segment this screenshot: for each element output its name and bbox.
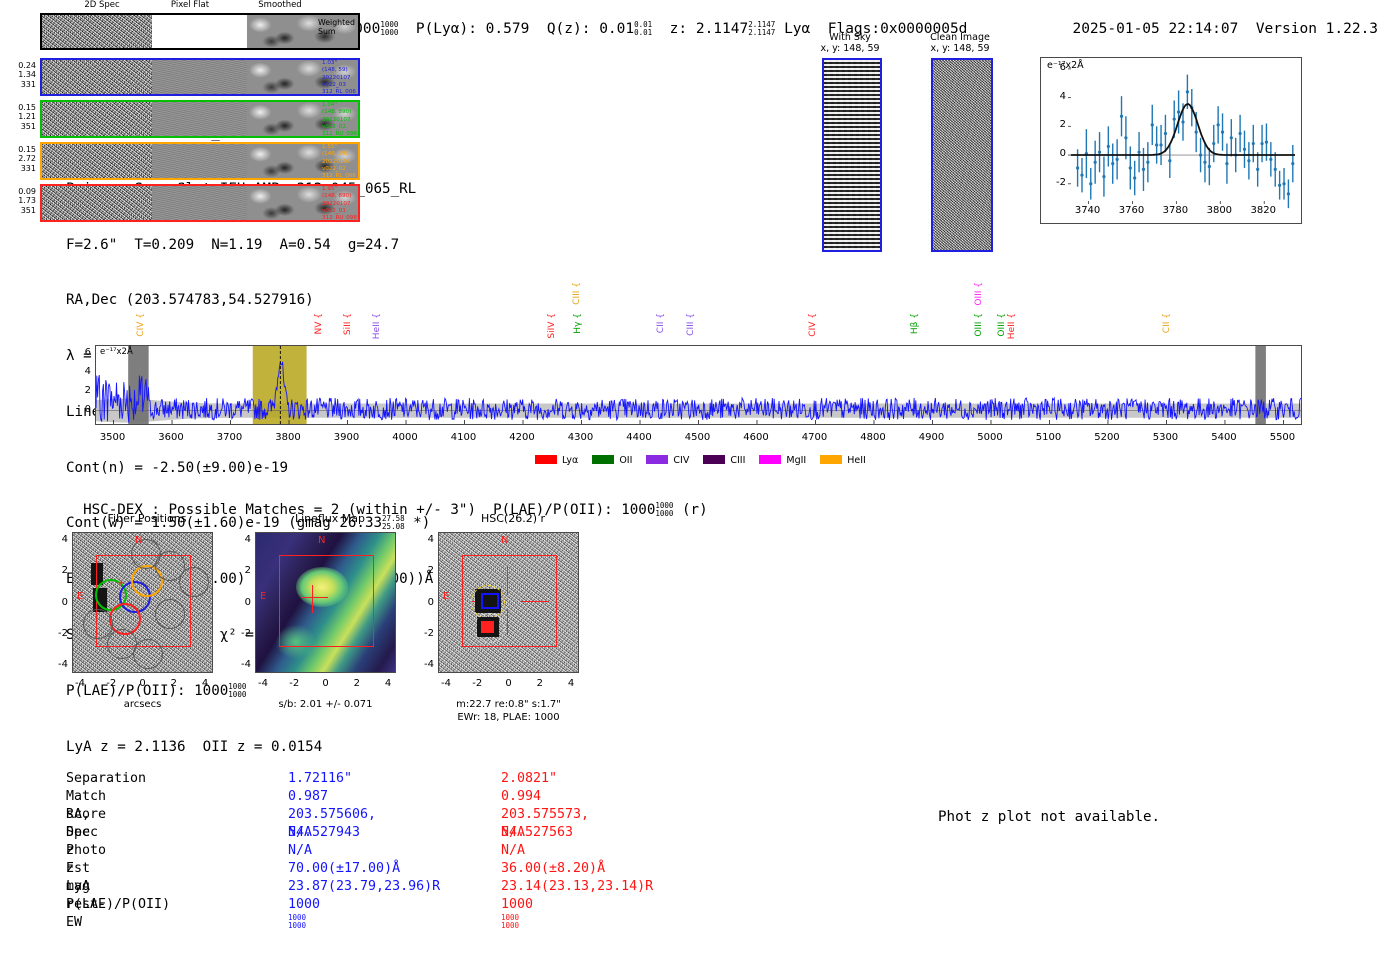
match-plae-frac: 10001000 xyxy=(501,914,519,930)
match-row-value-2: N/A xyxy=(501,842,525,860)
with-sky-image xyxy=(822,58,882,252)
spectrum-xtick: 3700 xyxy=(205,432,255,443)
fiber-north-label: N xyxy=(135,535,142,546)
spectrum-flux-units: e⁻¹⁷x2Å xyxy=(100,347,133,357)
montage-col-header-smoothed: Smoothed xyxy=(240,0,320,10)
profile-xtick: 3760 xyxy=(1111,205,1151,216)
info-redshifts: LyA z = 2.1136 OII z = 0.0154 xyxy=(66,738,433,757)
info-cont-n: Cont(n) = -2.50(±9.00)e-19 xyxy=(66,459,433,478)
match-row-value-2: 36.00(±8.20)Å xyxy=(501,860,605,878)
spectrum-xtick: 4100 xyxy=(439,432,489,443)
spectrum-xtick: 3800 xyxy=(263,432,313,443)
spectrum-line-label: HeII { xyxy=(1008,313,1017,339)
legend-label: OII xyxy=(619,455,632,466)
panel-xtick: -4 xyxy=(65,678,95,689)
panel-ytick: 2 xyxy=(48,565,68,576)
fiber-positions-xlabel: arcsecs xyxy=(72,698,213,711)
lineflux-map-title: Lineflux Map xyxy=(245,512,415,525)
montage-row-meta: 1.95"(148, 890)20220107v022_01312_RU_098 xyxy=(322,186,368,222)
photz-note: Phot z plot not available. xyxy=(938,809,1160,825)
hsc-r-xlabel: m:22.7 re:0.8" s:1.7" xyxy=(420,698,597,711)
montage-row-meta: 1.04"(148, 890)20220107v022_02312_RU_098 xyxy=(322,102,368,138)
lineflux-east-label: E xyxy=(260,591,266,602)
panel-xtick: -2 xyxy=(96,678,126,689)
montage-row-left-labels: 0.091.73351 xyxy=(0,187,36,215)
legend-swatch xyxy=(703,455,725,464)
panel-ytick: -4 xyxy=(414,659,434,670)
spectrum-line-label: OIII { xyxy=(975,313,984,337)
panel-xtick: -4 xyxy=(431,678,461,689)
legend-label: CIII xyxy=(730,455,745,466)
panel-ytick: 0 xyxy=(414,597,434,608)
match-plae-num: 1000 xyxy=(501,897,533,912)
panel-ytick: -2 xyxy=(48,628,68,639)
spectrum-xtick: 4000 xyxy=(380,432,430,443)
spectrum-xtick: 4900 xyxy=(906,432,956,443)
match-row-label: Separation xyxy=(66,770,146,788)
montage-row-meta: 1.03"(148, 59)20220107v022_03312_RL_006 xyxy=(322,60,368,96)
panel-xtick: 0 xyxy=(311,678,341,689)
spectrum-xtick: 4400 xyxy=(614,432,664,443)
match-row-value-1: N/A xyxy=(288,842,312,860)
spectrum-line-label: CII { xyxy=(1163,313,1172,333)
panel-xtick: 4 xyxy=(556,678,586,689)
match-plae-num: 1000 xyxy=(288,897,320,912)
spectrum-line-label: CIV { xyxy=(809,313,818,337)
fiber-positions-title: Fiber Positions xyxy=(62,512,232,525)
spectrum-line-label: CIII { xyxy=(687,313,696,336)
spectrum-xtick: 4700 xyxy=(789,432,839,443)
panel-ytick: 2 xyxy=(231,565,251,576)
panel-ytick: -2 xyxy=(414,628,434,639)
panel-xtick: -4 xyxy=(248,678,278,689)
panel-ytick: 0 xyxy=(48,597,68,608)
hsc-r-caption2: EWr: 18, PLAE: 1000 xyxy=(420,711,597,724)
montage-row-meta: 1.55"(148, 59)20220107v022_02312_RL_006 xyxy=(322,144,368,180)
profile-ytick: 2 xyxy=(1044,119,1066,130)
legend-label: MgII xyxy=(786,455,806,466)
spectrum-line-label: OIII { xyxy=(975,282,984,306)
spectrum-line-label: NV { xyxy=(315,313,324,334)
montage-fiber-row xyxy=(40,142,360,180)
weighted-sum-row xyxy=(40,13,360,50)
profile-ytick: -2 xyxy=(1044,177,1066,188)
cutout-with-sky-title-l1: With Sky xyxy=(800,32,900,43)
panel-ytick: 4 xyxy=(414,534,434,545)
hscdex-headline-post: (r) xyxy=(682,502,708,518)
profile-ytick: 0 xyxy=(1044,148,1066,159)
spectrum-ytick: 6 xyxy=(71,347,91,358)
hsc-r-image: N E xyxy=(438,532,579,673)
match-row-value-1: 70.00(±17.00)Å xyxy=(288,860,400,878)
panel-xtick: 0 xyxy=(494,678,524,689)
panel-ytick: -2 xyxy=(231,628,251,639)
line-profile-plot: e⁻¹⁷x2Å xyxy=(1040,57,1302,224)
spectrum-xtick: 5000 xyxy=(965,432,1015,443)
panel-ytick: -4 xyxy=(48,659,68,670)
spectrum-line-label: HeII { xyxy=(373,313,382,339)
match-plae-frac-bot: 1000 xyxy=(288,921,306,930)
legend-swatch xyxy=(592,455,614,464)
legend-swatch xyxy=(820,455,842,464)
montage-row-left-labels: 0.152.72331 xyxy=(0,145,36,173)
montage-col-header-pixelflat: Pixel Flat xyxy=(150,0,230,10)
full-spectrum-plot: e⁻¹⁷x2Å xyxy=(95,345,1302,425)
legend-item: CIV xyxy=(646,455,689,466)
panel-xtick: -2 xyxy=(462,678,492,689)
match-row-value-2: 0.994 xyxy=(501,788,541,806)
hsc-match-marker-red xyxy=(481,621,494,633)
panel-ytick: 4 xyxy=(48,534,68,545)
panel-xtick: 2 xyxy=(159,678,189,689)
match-row-value-2: 2.0821" xyxy=(501,770,557,788)
legend-swatch xyxy=(759,455,781,464)
match-row-value-2: 23.14(23.13,23.14)R xyxy=(501,878,653,896)
hscdex-headline-bot: 1000 xyxy=(655,509,673,518)
legend-item: OII xyxy=(592,455,632,466)
spectrum-xtick: 4600 xyxy=(731,432,781,443)
spectrum-line-label: SiIV { xyxy=(548,313,557,339)
legend-label: HeII xyxy=(847,455,866,466)
spectrum-xtick: 5400 xyxy=(1199,432,1249,443)
spectrum-line-label: CII { xyxy=(657,313,666,333)
fiber-positions-panel: Fiber Positions + N E arcsecs -4-2024 42… xyxy=(62,512,232,727)
legend-item: Lyα xyxy=(535,455,578,466)
montage-fiber-row xyxy=(40,58,360,96)
spectrum-line-label: OIII { xyxy=(998,313,1007,337)
panel-xtick: 4 xyxy=(373,678,403,689)
panel-xtick: -2 xyxy=(279,678,309,689)
montage-row-left-labels: 0.151.21351 xyxy=(0,103,36,131)
profile-xtick: 3820 xyxy=(1243,205,1283,216)
lineflux-fov-box xyxy=(279,555,374,647)
spectrum-xtick: 5300 xyxy=(1140,432,1190,443)
spectrum-legend: LyαOIICIVCIIIMgIIHeII xyxy=(535,455,880,466)
spectrum-line-label: SiII { xyxy=(344,313,353,335)
spectrum-line-label: Hβ { xyxy=(911,313,920,334)
spectrum-xtick: 3600 xyxy=(146,432,196,443)
header-qz-label: Q(z): 0.01 xyxy=(547,21,634,37)
lineflux-map-xlabel: s/b: 2.01 +/- 0.071 xyxy=(237,698,414,711)
legend-label: Lyα xyxy=(562,455,578,466)
panel-ytick: -4 xyxy=(231,659,251,670)
profile-ytick: 4 xyxy=(1044,91,1066,102)
profile-xtick: 3740 xyxy=(1068,205,1108,216)
header-z-label: z: 2.1147 xyxy=(670,21,749,37)
header-version: Version 1.22.3 xyxy=(1256,21,1378,37)
hsc-crosshair-v1 xyxy=(507,567,508,595)
spectrum-ytick: 0 xyxy=(71,404,91,415)
montage-row-left-labels: 0.241.34331 xyxy=(0,61,36,89)
spectrum-xtick: 4800 xyxy=(848,432,898,443)
match-row-value-1: 23.87(23.79,23.96)R xyxy=(288,878,440,896)
panel-ytick: 0 xyxy=(231,597,251,608)
legend-item: HeII xyxy=(820,455,866,466)
profile-ytick: 6 xyxy=(1044,62,1066,73)
match-row-label: mag xyxy=(66,878,90,896)
panel-xtick: 2 xyxy=(342,678,372,689)
hsc-crosshair-h1 xyxy=(521,601,549,602)
match-plae-value-1: 100010001000 xyxy=(288,896,320,932)
spectrum-xtick: 5100 xyxy=(1023,432,1073,443)
cutout-clean-title-l1: Clean Image xyxy=(905,32,1015,43)
legend-item: MgII xyxy=(759,455,806,466)
header-z-bot: 2.1147 xyxy=(748,28,775,37)
montage-fiber-row xyxy=(40,100,360,138)
hsc-match-marker-blue xyxy=(481,593,499,609)
info-radec: RA,Dec (203.574783,54.527916) xyxy=(66,291,433,310)
spectrum-ytick: 2 xyxy=(71,385,91,396)
cutout-clean-title-l2: x, y: 148, 59 xyxy=(905,43,1015,54)
hsc-north-label: N xyxy=(501,535,508,546)
header-timestamp-version: 2025-01-05 22:14:07 Version 1.22.3 xyxy=(1055,5,1378,37)
spectrum-line-label: Hγ { xyxy=(574,313,583,334)
match-plae-frac-bot: 1000 xyxy=(501,921,519,930)
lineflux-map-panel: Lineflux Map N E s/b: 2.01 +/- 0.071 -4-… xyxy=(245,512,415,727)
match-plae-frac: 10001000 xyxy=(288,914,306,930)
panel-ytick: 4 xyxy=(231,534,251,545)
panel-ytick: 2 xyxy=(414,565,434,576)
fiber-positions-image: + N E xyxy=(72,532,213,673)
info-seeing-params: F=2.6" T=0.209 N=1.19 A=0.54 g=24.7 xyxy=(66,236,433,255)
hsc-crosshair-v2 xyxy=(507,609,508,635)
header-timestamp: 2025-01-05 22:14:07 xyxy=(1072,21,1238,37)
spectrum-xtick: 3900 xyxy=(322,432,372,443)
montage-fiber-row xyxy=(40,184,360,222)
panel-xtick: 2 xyxy=(525,678,555,689)
profile-xtick: 3780 xyxy=(1155,205,1195,216)
weighted-sum-label: Weighted Sum xyxy=(318,18,355,36)
legend-label: CIV xyxy=(673,455,689,466)
legend-swatch xyxy=(535,455,557,464)
match-row-value-1: N/A xyxy=(288,824,312,842)
spectrum-line-label: CIII { xyxy=(573,282,582,305)
hsc-r-panel: HSC(26.2) r N E m:22.7 re:0.8" s:1.7" EW… xyxy=(428,512,598,742)
profile-xtick: 3800 xyxy=(1199,205,1239,216)
spectrum-ytick: 4 xyxy=(71,366,91,377)
panel-xtick: 0 xyxy=(128,678,158,689)
montage-col-header-2dspec: 2D Spec xyxy=(62,0,142,10)
clean-image xyxy=(931,58,993,252)
spectrum-xtick: 5200 xyxy=(1082,432,1132,443)
match-row-value-2: N/A xyxy=(501,824,525,842)
header-qz-bot: 0.01 xyxy=(634,28,652,37)
hsc-r-title: HSC(26.2) r xyxy=(428,512,598,525)
spectrum-xtick: 5500 xyxy=(1257,432,1307,443)
match-plae-value-2: 100010001000 xyxy=(501,896,533,932)
panel-xtick: 4 xyxy=(190,678,220,689)
spectrum-xtick: 4300 xyxy=(556,432,606,443)
match-row-value-1: 0.987 xyxy=(288,788,328,806)
spectrum-line-label: CIV { xyxy=(137,313,146,337)
hsc-east-label: E xyxy=(443,591,449,602)
spectrum-xtick: 4500 xyxy=(673,432,723,443)
fiber-east-label: E xyxy=(77,591,83,602)
legend-swatch xyxy=(646,455,668,464)
legend-item: CIII xyxy=(703,455,745,466)
lineflux-north-label: N xyxy=(318,535,325,546)
match-plae-label: P(LAE)/P(OII) xyxy=(66,896,170,914)
fiber-center-cross: + xyxy=(118,578,124,589)
spectrum-xtick: 3500 xyxy=(88,432,138,443)
cutout-with-sky-title-l2: x, y: 148, 59 xyxy=(800,43,900,54)
lineflux-map-image: N E xyxy=(255,532,396,673)
match-row-value-1: 1.72116" xyxy=(288,770,352,788)
spectrum-xtick: 4200 xyxy=(497,432,547,443)
